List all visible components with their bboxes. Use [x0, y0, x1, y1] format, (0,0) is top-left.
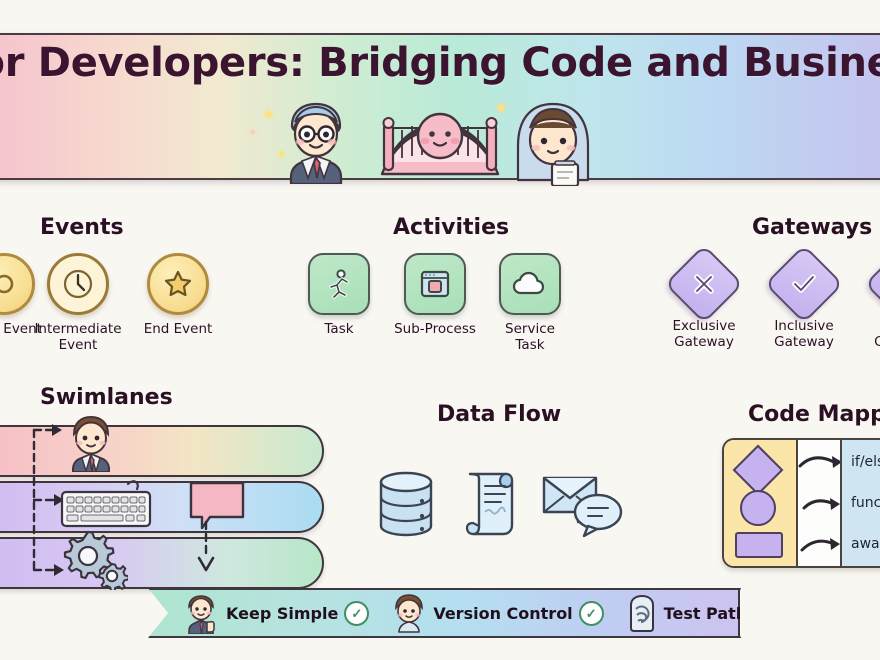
event-label: End Event	[126, 322, 230, 338]
best-practices-ribbon: Keep Simple ✓ Version Control ✓	[148, 588, 740, 638]
section-title-gateways: Gateways	[752, 215, 872, 240]
child-face-icon	[391, 592, 427, 634]
gateway-item-exclusive[interactable]: Exclusive Gateway	[652, 250, 756, 351]
swimlane-down-arrow	[196, 520, 224, 576]
ribbon-item-keep-simple[interactable]: Keep Simple ✓	[182, 592, 369, 634]
infographic-canvas: PMN for Developers: Bridging Code and Bu…	[0, 0, 880, 660]
businessman-icon	[60, 410, 122, 472]
code-text: if/else	[851, 454, 880, 470]
check-icon: ✓	[344, 601, 369, 626]
ribbon-item-test-paths[interactable]: Test Paths ✓	[626, 593, 788, 633]
activity-label: Task	[287, 322, 391, 338]
code-mapping-shapes-column	[724, 440, 796, 566]
section-title-activities: Activities	[393, 215, 509, 240]
ribbon-label: Version Control	[433, 604, 572, 623]
section-title-code-mapping: Code Mappi	[748, 402, 880, 427]
gears-icon	[60, 528, 128, 590]
gateway-item-inclusive[interactable]: Inclusive Gateway	[752, 250, 856, 351]
x-mark-icon	[664, 244, 743, 323]
activity-item-service[interactable]: Service Task	[478, 253, 582, 354]
clock-icon	[47, 253, 109, 315]
code-mapping-arrows-column	[796, 440, 840, 566]
scroll-document-icon[interactable]	[460, 466, 522, 540]
activity-item-task[interactable]: Task	[287, 253, 391, 338]
gateway-label: Parallel Gateway	[852, 319, 880, 351]
event-item-intermediate[interactable]: Intermediate Event	[26, 253, 130, 354]
plus-mark-icon	[864, 244, 880, 323]
ribbon-item-version-control[interactable]: Version Control ✓	[391, 592, 603, 634]
check-icon: ✓	[579, 601, 604, 626]
code-text: await	[851, 536, 880, 552]
rectangle-shape	[735, 532, 783, 558]
gateway-label: Inclusive Gateway	[752, 319, 856, 351]
gateway-label: Exclusive Gateway	[652, 319, 756, 351]
event-item-end[interactable]: End Event	[126, 253, 230, 338]
developer-character	[508, 94, 598, 186]
gateway-item-parallel[interactable]: Parallel Gateway	[852, 250, 880, 351]
check-icon: ✓	[763, 601, 788, 626]
businessman-thumbsup-icon	[182, 592, 220, 634]
keyboard-icon	[58, 478, 154, 532]
star-icon	[147, 253, 209, 315]
page-title: PMN for Developers: Bridging Code and Bu…	[0, 40, 880, 86]
window-icon	[404, 253, 466, 315]
activity-item-subprocess[interactable]: Sub-Process	[383, 253, 487, 338]
business-analyst-character	[270, 92, 362, 184]
code-mapping-table: if/else function await	[722, 438, 880, 568]
test-tag-icon	[626, 593, 658, 633]
ribbon-label: Test Paths	[664, 604, 757, 623]
diamond-shape	[733, 445, 784, 496]
running-person-icon	[308, 253, 370, 315]
event-label: Intermediate Event	[26, 322, 130, 354]
section-title-events: Events	[40, 215, 124, 240]
cloud-icon	[499, 253, 561, 315]
envelope-message-icon[interactable]	[540, 468, 624, 538]
section-title-swimlanes: Swimlanes	[40, 385, 173, 410]
sparkle-icon: ✦	[248, 128, 257, 139]
activity-label: Sub-Process	[383, 322, 487, 338]
activity-label: Service Task	[478, 322, 582, 354]
code-text: function	[851, 495, 880, 511]
check-mark-icon	[764, 244, 843, 323]
code-mapping-code-column: if/else function await	[840, 440, 880, 566]
circle-shape	[740, 490, 776, 526]
section-title-data-flow: Data Flow	[437, 402, 561, 427]
bridge-character	[378, 106, 502, 178]
ribbon-label: Keep Simple	[226, 604, 338, 623]
database-icon[interactable]	[375, 470, 437, 538]
